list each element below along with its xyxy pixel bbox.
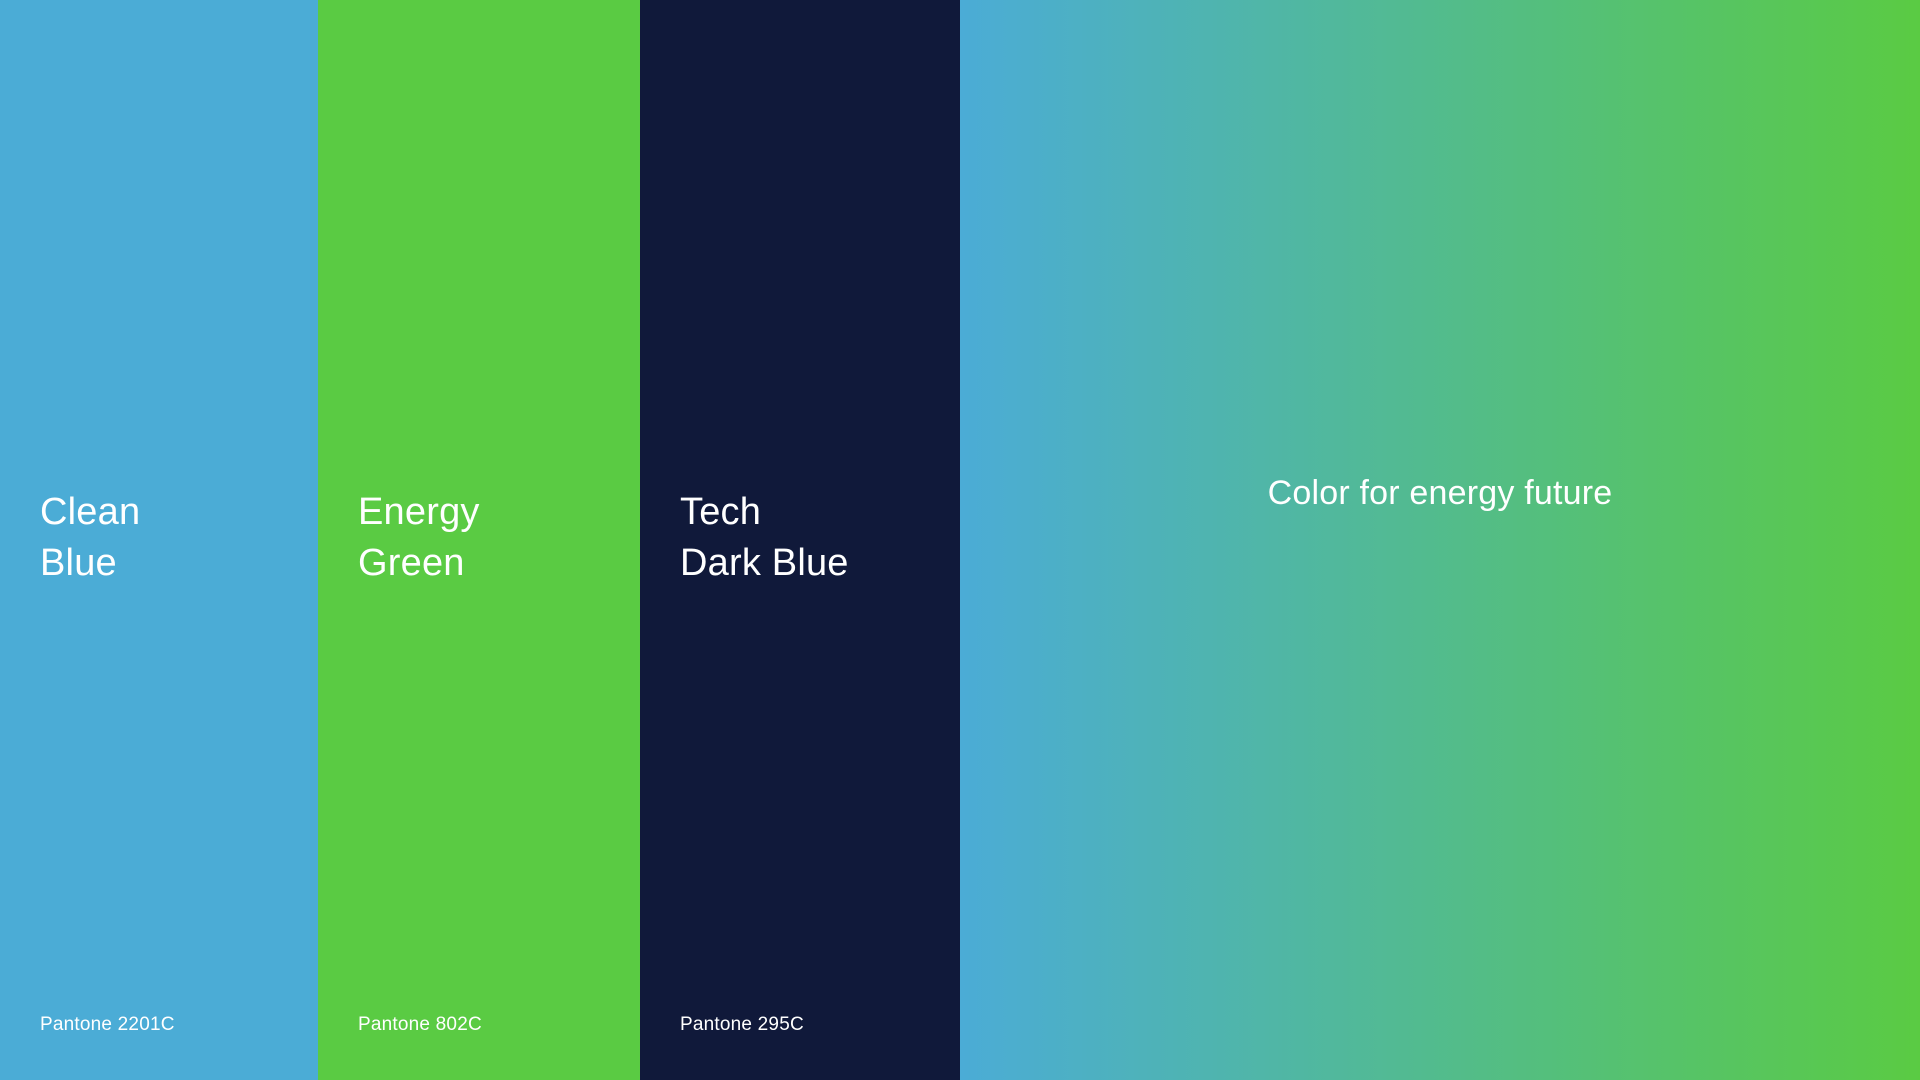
color-palette-board: Clean Blue Pantone 2201C Energy Green Pa… — [0, 0, 1920, 1080]
swatch-name-tech-dark-blue: Tech Dark Blue — [680, 487, 849, 589]
color-swatch-tech-dark-blue[interactable]: Tech Dark Blue Pantone 295C — [640, 0, 960, 1080]
swatch-name-energy-green: Energy Green — [358, 487, 480, 589]
swatch-pantone-code-clean-blue: Pantone 2201C — [40, 1012, 175, 1038]
color-swatch-energy-green[interactable]: Energy Green Pantone 802C — [318, 0, 640, 1080]
gradient-panel: Color for energy future — [960, 0, 1920, 1080]
gradient-tagline: Color for energy future — [1268, 470, 1613, 516]
swatch-pantone-code-tech-dark-blue: Pantone 295C — [680, 1012, 804, 1038]
color-swatch-clean-blue[interactable]: Clean Blue Pantone 2201C — [0, 0, 318, 1080]
swatch-name-clean-blue: Clean Blue — [40, 487, 140, 589]
swatch-pantone-code-energy-green: Pantone 802C — [358, 1012, 482, 1038]
